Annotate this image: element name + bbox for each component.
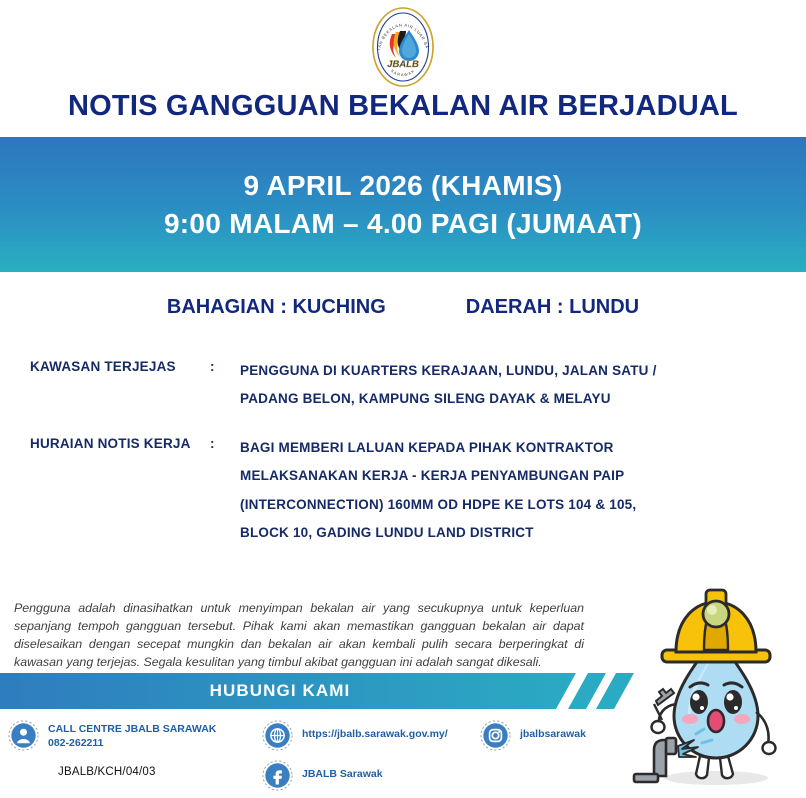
work-description-block: HURAIAN NOTIS KERJA : BAGI MEMBERI LALUA… xyxy=(0,434,806,547)
facebook-handle[interactable]: JBALB Sarawak xyxy=(302,760,383,781)
contact-facebook[interactable]: JBALB Sarawak xyxy=(262,760,383,791)
logo-container: JABATAN BEKALAN AIR LUAR BANDAR SARAWAK … xyxy=(0,0,806,88)
work-description-colon: : xyxy=(210,434,240,454)
contacts-row: CALL CENTRE JBALB SARAWAK 082-262211 htt… xyxy=(0,718,806,793)
jbalb-sarawak-logo: JABATAN BEKALAN AIR LUAR BANDAR SARAWAK … xyxy=(364,6,442,88)
website-url[interactable]: https://jbalb.sarawak.gov.my/ xyxy=(302,720,448,741)
affected-area-label: KAWASAN TERJEJAS xyxy=(0,357,210,377)
date-line-secondary: 9:00 MALAM – 4.00 PAGI (JUMAAT) xyxy=(164,205,642,243)
work-description-value: BAGI MEMBERI LALUAN KEPADA PIHAK KONTRAK… xyxy=(240,434,806,547)
globe-icon xyxy=(262,720,293,751)
work-description-line: BLOCK 10, GADING LUNDU LAND DISTRICT xyxy=(240,519,728,547)
page-title: NOTIS GANGGUAN BEKALAN AIR BERJADUAL xyxy=(0,88,806,121)
daerah-label: DAERAH : LUNDU xyxy=(466,296,639,319)
affected-area-block: KAWASAN TERJEJAS : PENGGUNA DI KUARTERS … xyxy=(0,357,806,414)
call-centre-name: CALL CENTRE JBALB SARAWAK xyxy=(48,723,216,735)
division-district-row: BAHAGIAN : KUCHING DAERAH : LUNDU xyxy=(0,296,806,319)
affected-area-line: PADANG BELON, KAMPUNG SILENG DAYAK & MEL… xyxy=(240,385,728,413)
work-description-label: HURAIAN NOTIS KERJA xyxy=(0,434,210,454)
contact-website[interactable]: https://jbalb.sarawak.gov.my/ xyxy=(262,720,448,751)
instagram-icon xyxy=(480,720,511,751)
bahagian-label: BAHAGIAN : KUCHING xyxy=(167,296,386,319)
contact-instagram[interactable]: jbalbsarawak xyxy=(480,720,586,751)
person-icon xyxy=(8,720,39,751)
svg-text:JBALB: JBALB xyxy=(387,59,419,70)
date-banner: 9 APRIL 2026 (KHAMIS) 9:00 MALAM – 4.00 … xyxy=(0,137,806,272)
instagram-handle[interactable]: jbalbsarawak xyxy=(520,720,586,741)
reference-number: JBALB/KCH/04/03 xyxy=(58,766,156,778)
work-description-line: BAGI MEMBERI LALUAN KEPADA PIHAK KONTRAK… xyxy=(240,434,728,462)
contact-call-centre[interactable]: CALL CENTRE JBALB SARAWAK 082-262211 xyxy=(8,720,216,751)
date-line-primary: 9 APRIL 2026 (KHAMIS) xyxy=(243,167,562,205)
work-description-line: MELAKSANAKAN KERJA - KERJA PENYAMBUNGAN … xyxy=(240,462,728,490)
affected-area-line: PENGGUNA DI KUARTERS KERAJAAN, LUNDU, JA… xyxy=(240,357,728,385)
advisory-note: Pengguna adalah dinasihatkan untuk menyi… xyxy=(14,600,584,672)
contact-call-centre-text: CALL CENTRE JBALB SARAWAK 082-262211 xyxy=(48,720,216,750)
work-description-line: (INTERCONNECTION) 160MM OD HDPE KE LOTS … xyxy=(240,491,728,519)
affected-area-value: PENGGUNA DI KUARTERS KERAJAAN, LUNDU, JA… xyxy=(240,357,806,414)
facebook-icon xyxy=(262,760,293,791)
notice-page: JABATAN BEKALAN AIR LUAR BANDAR SARAWAK … xyxy=(0,0,806,793)
call-centre-phone: 082-262211 xyxy=(48,736,216,750)
contact-bar-title: HUBUNGI KAMI xyxy=(0,673,560,709)
affected-area-colon: : xyxy=(210,357,240,377)
